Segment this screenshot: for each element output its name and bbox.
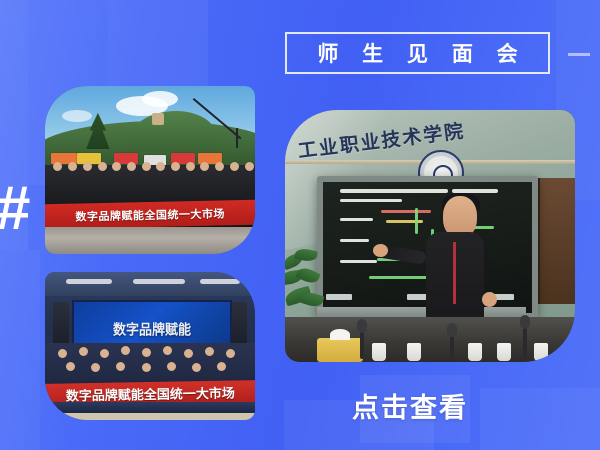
microphone	[450, 333, 454, 359]
photo-content: 数字品牌赋能 数字品牌赋能全国统一大市场	[45, 272, 255, 420]
page-title: 师 生 见 面 会	[285, 32, 550, 74]
person-head	[100, 349, 109, 358]
chalk-stroke	[340, 260, 378, 263]
leaf	[295, 264, 320, 285]
background-band	[480, 388, 600, 450]
ceiling-light	[200, 279, 240, 284]
person-head	[68, 162, 77, 171]
person-head	[230, 162, 239, 171]
red-banner: 数字品牌赋能全国统一大市场	[45, 200, 255, 230]
background-band	[0, 250, 40, 450]
person-head	[200, 162, 209, 171]
red-banner-text: 数字品牌赋能全国统一大市场	[75, 205, 225, 224]
chalk-stroke	[340, 218, 373, 221]
paper-cup	[497, 343, 511, 361]
person-head	[245, 162, 254, 171]
person-head	[58, 349, 67, 358]
person-head	[226, 349, 235, 358]
paper-cup	[468, 343, 482, 361]
person-head	[156, 162, 165, 171]
cloud	[142, 91, 178, 107]
pointing-hand	[373, 244, 388, 257]
title-dash-icon	[568, 53, 590, 56]
page-title-text: 师 生 见 面 会	[308, 38, 526, 68]
person-head	[163, 346, 172, 355]
ground	[45, 227, 255, 254]
paper-cup	[407, 343, 421, 361]
person-head	[127, 162, 136, 171]
hand	[482, 292, 497, 307]
ceiling-light	[133, 279, 185, 284]
person-head	[171, 162, 180, 171]
red-banner-text: 数字品牌赋能全国统一大市场	[65, 382, 234, 404]
person-head	[121, 346, 130, 355]
chalk-stroke	[340, 239, 369, 242]
front-desk	[285, 317, 575, 362]
paper-cup	[372, 343, 386, 361]
lanyard	[453, 242, 456, 304]
person-head	[142, 348, 151, 357]
microphone	[360, 329, 364, 359]
promo-card: # 师 生 见 面 会	[0, 0, 600, 450]
chalk-stroke	[415, 208, 418, 234]
person-head	[98, 162, 107, 171]
click-to-view-button[interactable]: 点击查看	[352, 386, 468, 425]
person-head	[116, 362, 125, 371]
stage-edge	[45, 402, 255, 412]
floor	[45, 413, 255, 420]
person-head	[217, 362, 226, 371]
person-head	[112, 162, 121, 171]
crane	[194, 98, 252, 146]
person-head	[142, 162, 151, 171]
photo-main-classroom[interactable]: 工业职业技术学院	[285, 110, 575, 362]
photo-content: 工业职业技术学院	[285, 110, 575, 362]
person-head	[167, 362, 176, 371]
ceiling-light	[66, 279, 112, 284]
person-head	[184, 349, 193, 358]
person-head	[142, 363, 151, 372]
person-head	[66, 362, 75, 371]
wood-cabinet	[538, 178, 575, 304]
pagoda	[152, 113, 164, 125]
person-head	[186, 162, 195, 171]
chalk-stroke	[340, 189, 449, 193]
person-head	[53, 162, 62, 171]
paper-cup	[534, 343, 548, 361]
microphone	[523, 325, 527, 359]
person-head	[83, 162, 92, 171]
person-head	[192, 363, 201, 372]
person-head	[205, 347, 214, 356]
tissue-box	[317, 338, 363, 362]
stage-screen-text: 数字品牌赋能	[113, 318, 191, 339]
chalk-stroke	[340, 199, 403, 202]
person-head	[79, 347, 88, 356]
hash-icon: #	[0, 178, 28, 240]
photo-thumbnail-outdoor-group[interactable]: 数字品牌赋能全国统一大市场	[45, 86, 255, 254]
photo-thumbnail-conference-group[interactable]: 数字品牌赋能 数字品牌赋能全国统一大市场	[45, 272, 255, 420]
person-head	[215, 162, 224, 171]
person-head	[91, 363, 100, 372]
photo-content: 数字品牌赋能全国统一大市场	[45, 86, 255, 254]
cloud	[62, 110, 92, 122]
